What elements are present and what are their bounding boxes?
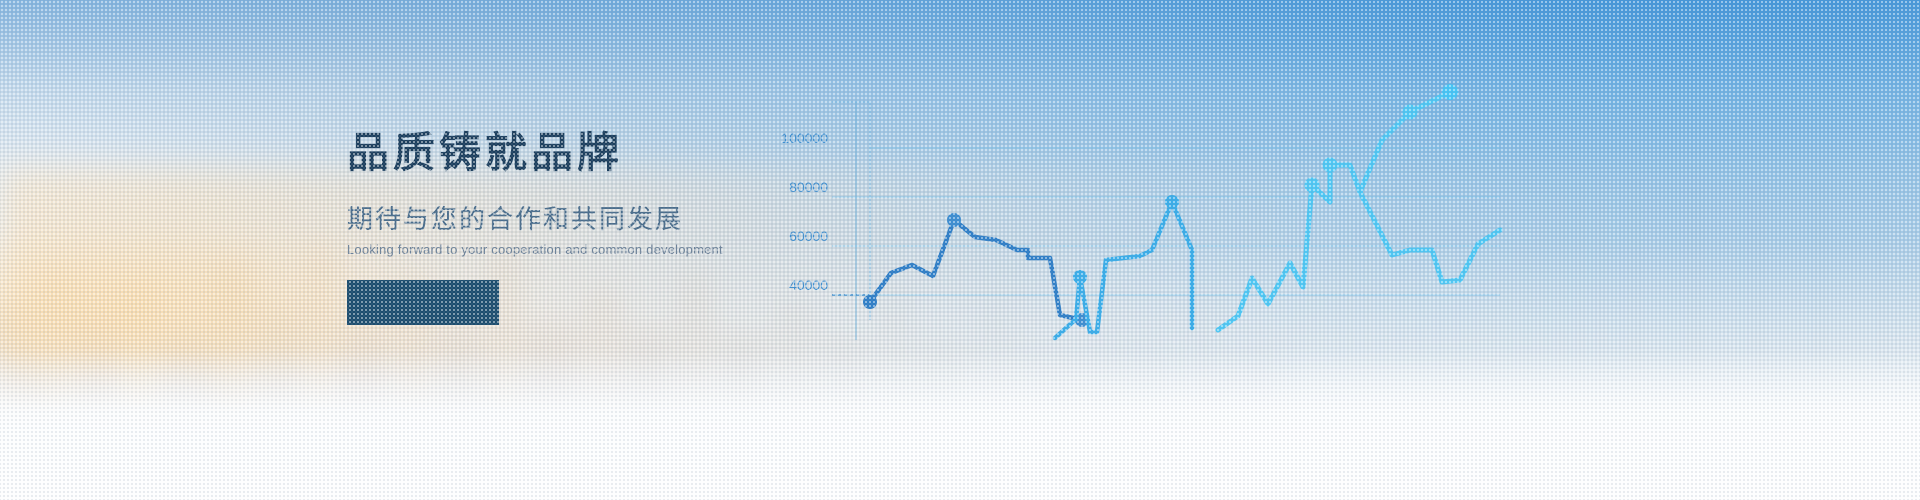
hero-banner: 100000 80000 60000 40000 [0, 0, 1920, 500]
data-point-marker [1442, 84, 1458, 100]
chart-series-1 [863, 213, 1089, 327]
data-point-marker [947, 213, 961, 227]
y-tick-label: 80000 [789, 179, 828, 195]
data-point-marker [1073, 270, 1087, 284]
y-tick-label: 40000 [789, 277, 828, 293]
y-axis-tick-labels: 100000 80000 60000 40000 [781, 130, 828, 293]
hero-copy-block: 品质铸就品牌 期待与您的合作和共同发展 Looking forward to y… [347, 128, 777, 325]
chart-series-3-peak [1360, 84, 1458, 192]
chart-series-3 [1218, 158, 1500, 331]
statistics-line-chart: 100000 80000 60000 40000 [760, 70, 1550, 360]
y-tick-label: 100000 [781, 130, 828, 146]
page-title: 品质铸就品牌 [347, 128, 777, 178]
data-point-marker [1323, 158, 1338, 173]
data-point-marker [1165, 195, 1179, 209]
page-subtitle: 期待与您的合作和共同发展 [347, 204, 777, 235]
page-subtitle-english: Looking forward to your cooperation and … [347, 242, 777, 257]
data-point-marker [1403, 105, 1418, 120]
cta-button[interactable] [347, 280, 499, 325]
chart-series-2 [1055, 195, 1192, 338]
data-point-marker [863, 295, 877, 309]
y-tick-label: 60000 [789, 228, 828, 244]
ground-fade [0, 350, 1920, 500]
data-point-marker [1305, 178, 1320, 193]
